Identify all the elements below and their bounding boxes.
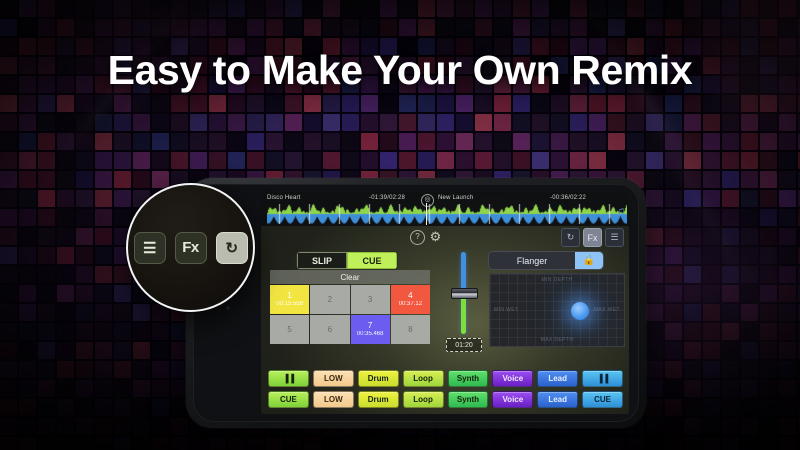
cue-pad-number: 5 <box>287 325 291 334</box>
cue-pad[interactable]: 100:15.558 <box>270 285 309 314</box>
slip-button[interactable]: SLIP <box>297 252 347 269</box>
cue-pad[interactable]: 8 <box>391 315 430 344</box>
cue-pad-time: 00:15.558 <box>276 301 303 308</box>
right-track-time: -00:36/02:22 <box>550 195 586 201</box>
synth-button[interactable]: Synth <box>448 370 489 387</box>
magnifier-callout: ☰Fx↻ <box>126 183 255 312</box>
drum-button[interactable]: Drum <box>358 391 399 408</box>
cue-pad-grid: 100:15.55823400:37.1256700:35.4688 <box>270 285 430 344</box>
xy-label-bottom: MAX DEPTH <box>541 337 574 343</box>
track-topbar: Disco Heart -01:39/02:28 ◎ New Launch -0… <box>261 192 629 226</box>
pause-icon[interactable]: ▐▐ <box>582 370 623 387</box>
cue-pad-number: 4 <box>408 291 412 300</box>
right-track-title: New Launch <box>438 195 473 201</box>
gear-icon[interactable]: ⚙ <box>429 230 442 243</box>
cue-pad-number: 3 <box>368 295 372 304</box>
waveform-display[interactable] <box>267 204 627 224</box>
left-track-title: Disco Heart <box>267 195 301 201</box>
loop-icon-glyph: ↻ <box>225 239 237 257</box>
playhead-marker <box>426 203 427 225</box>
loop-icon[interactable]: ↻ <box>216 232 248 264</box>
crossfader-time-label: 01:20 <box>446 338 482 352</box>
cue-right-button[interactable]: CUE <box>582 391 623 408</box>
music-note-add-icon[interactable]: ♫ <box>616 205 625 217</box>
slip-cue-toggle: SLIP CUE <box>297 252 397 269</box>
cue-pad[interactable]: 400:37.12 <box>391 285 430 314</box>
crossfader-knob[interactable] <box>451 288 478 299</box>
sample-button-rows: ▐▐LOWDrumLoopSynthVoiceLead▐▐CUELOWDrumL… <box>268 370 623 408</box>
cue-pad-number: 2 <box>328 295 332 304</box>
voice-button[interactable]: Voice <box>492 391 533 408</box>
sample-button-row: ▐▐LOWDrumLoopSynthVoiceLead▐▐ <box>268 370 623 387</box>
sample-button-row: CUELOWDrumLoopSynthVoiceLeadCUE <box>268 391 623 408</box>
voice-button[interactable]: Voice <box>492 370 533 387</box>
equalizer-icon[interactable]: ☰ <box>134 232 166 264</box>
cue-mode-button[interactable]: CUE <box>347 252 397 269</box>
question-mark-icon[interactable]: ? <box>410 230 425 245</box>
fx-icon[interactable]: Fx <box>175 232 207 264</box>
lead-button[interactable]: Lead <box>537 391 578 408</box>
fx-header: Flanger 🔒 <box>489 252 603 269</box>
cue-pad-time: 00:35.468 <box>357 331 384 338</box>
toolbar-right-group: ↻Fx☰ <box>561 228 624 247</box>
cue-pad-number: 7 <box>368 321 372 330</box>
loop-button[interactable]: Loop <box>403 391 444 408</box>
phone-device: Disco Heart -01:39/02:28 ◎ New Launch -0… <box>186 178 646 428</box>
low-button[interactable]: LOW <box>313 391 354 408</box>
fx-icon-glyph: Fx <box>182 239 199 256</box>
crossfader[interactable]: 01:20 <box>446 252 480 352</box>
page-title: Easy to Make Your Own Remix <box>0 47 800 94</box>
fx-xy-pad[interactable]: MIN DEPTH MAX DEPTH MIN WET MAX WET <box>489 273 625 347</box>
app-toolbar: ? ⚙ ↻Fx☰ <box>261 226 629 248</box>
lead-button[interactable]: Lead <box>537 370 578 387</box>
left-track-time: -01:39/02:28 <box>369 195 405 201</box>
drum-button[interactable]: Drum <box>358 370 399 387</box>
cue-pad-number: 8 <box>408 325 412 334</box>
clear-button[interactable]: Clear <box>270 270 430 284</box>
cue-pad-number: 1 <box>287 291 291 300</box>
synth-button[interactable]: Synth <box>448 391 489 408</box>
fx-icon[interactable]: Fx <box>583 228 602 247</box>
xy-label-left: MIN WET <box>494 307 518 313</box>
equalizer-icon[interactable]: ☰ <box>605 228 624 247</box>
phone-bezel: Disco Heart -01:39/02:28 ◎ New Launch -0… <box>193 184 639 422</box>
phone-screen: Disco Heart -01:39/02:28 ◎ New Launch -0… <box>261 192 629 414</box>
cue-pad[interactable]: 3 <box>351 285 390 314</box>
equalizer-icon-glyph: ☰ <box>143 239 156 257</box>
loop-button[interactable]: Loop <box>403 370 444 387</box>
cue-pad[interactable]: 5 <box>270 315 309 344</box>
cue-pad-time: 00:37.12 <box>399 301 422 308</box>
lock-icon[interactable]: 🔒 <box>575 252 603 269</box>
pause-icon[interactable]: ▐▐ <box>268 370 309 387</box>
cue-pad[interactable]: 700:35.468 <box>351 315 390 344</box>
xy-label-right: MAX WET <box>594 307 620 313</box>
cue-left-button[interactable]: CUE <box>268 391 309 408</box>
loop-icon[interactable]: ↻ <box>561 228 580 247</box>
xy-pad-handle[interactable] <box>571 302 589 320</box>
xy-label-top: MIN DEPTH <box>541 277 572 283</box>
low-button[interactable]: LOW <box>313 370 354 387</box>
phone-camera-dot <box>226 306 230 310</box>
cue-pad[interactable]: 6 <box>310 315 349 344</box>
promo-banner: Easy to Make Your Own Remix Disco Heart … <box>0 0 800 450</box>
cue-pad-number: 6 <box>328 325 332 334</box>
fx-name-label[interactable]: Flanger <box>489 252 575 269</box>
cue-pad[interactable]: 2 <box>310 285 349 314</box>
